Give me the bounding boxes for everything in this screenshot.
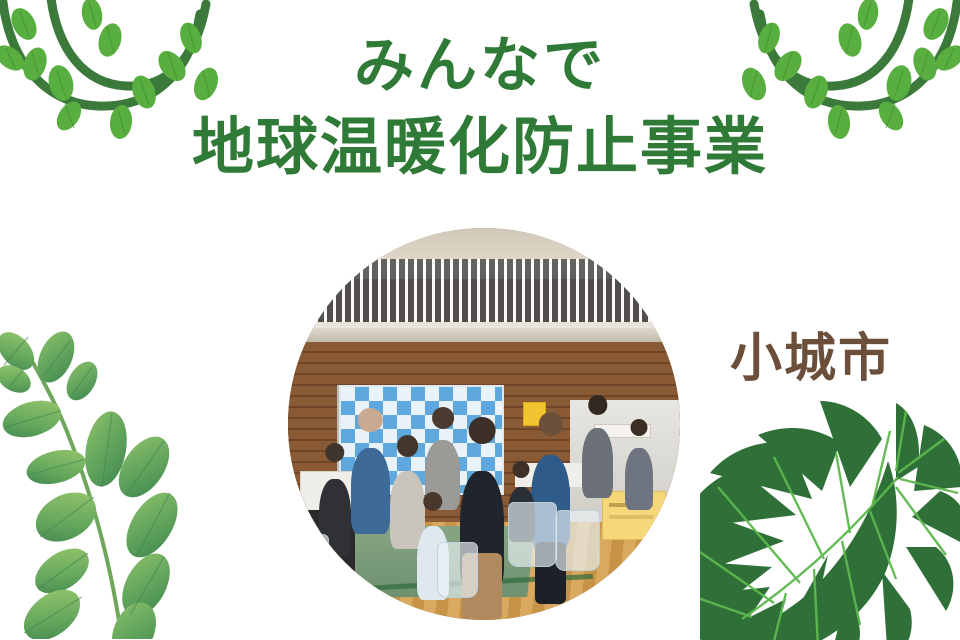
- title-line-1: みんなで: [0, 28, 960, 104]
- poster-canvas: みんなで 地球温暖化防止事業 小城市: [0, 0, 960, 640]
- watercolor-leaf-branch-icon: [0, 309, 254, 640]
- city-name-label: 小城市: [730, 330, 892, 388]
- event-photo-scene: [288, 228, 680, 620]
- photo-plastic-bag: [555, 510, 600, 571]
- photo-plastic-bag: [292, 534, 329, 587]
- photo-person: [582, 428, 613, 499]
- event-photo-circle: [288, 228, 680, 620]
- poster-title: みんなで 地球温暖化防止事業: [0, 28, 960, 186]
- photo-balcony-railing: [288, 259, 680, 326]
- photo-person: [625, 448, 652, 511]
- photo-plastic-bag: [508, 502, 557, 567]
- title-line-2: 地球温暖化防止事業: [0, 108, 960, 186]
- monstera-leaf-icon: [700, 395, 960, 640]
- photo-person: [351, 448, 390, 534]
- photo-plastic-bag: [437, 542, 478, 599]
